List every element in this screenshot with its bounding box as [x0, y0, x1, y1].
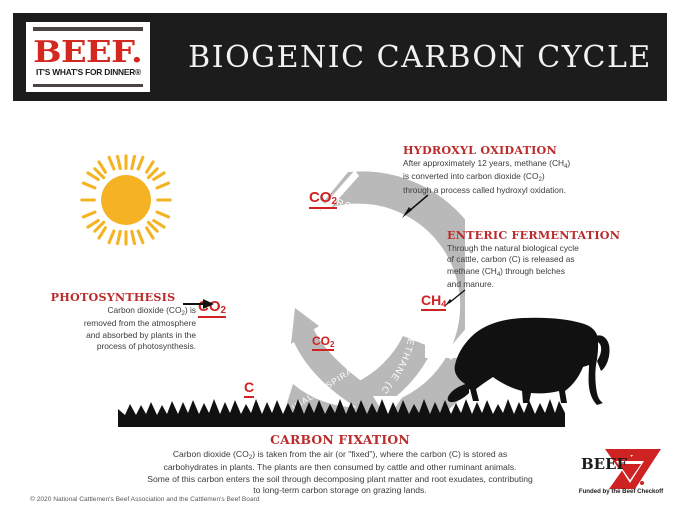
photosynthesis-body: Carbon dioxide (CO2) is removed from the… [30, 305, 196, 353]
enteric-line4: and manure. [447, 279, 494, 289]
photosynthesis-line3: and absorbed by plants in the [86, 330, 196, 340]
photosynthesis-line4: process of photosynthesis. [97, 341, 196, 351]
logo-wordmark-group: BEEF. IT'S WHAT'S FOR DINNER® [33, 31, 143, 84]
carbon-fixation-line4: to long-term carbon storage on grazing l… [253, 485, 426, 495]
hydroxyl-body: After approximately 12 years, methane (C… [403, 158, 633, 196]
enteric-line1: Through the natural biological cycle [447, 243, 579, 253]
hydroxyl-line3: through a process called hydroxyl oxidat… [403, 185, 566, 195]
ring-marker-co2-top: CO2 [309, 190, 337, 205]
carbon-fixation-line1b: ) is taken from the air (or "fixed"), wh… [252, 449, 507, 459]
enteric-body: Through the natural biological cycle of … [447, 243, 662, 291]
carbon-fixation-body: Carbon dioxide (CO2) is taken from the a… [100, 449, 580, 497]
ring-marker-c: C [244, 380, 254, 394]
enteric-line3: methane (CH [447, 266, 497, 276]
checkoff-funding-text: Funded by the Beef Checkoff [575, 488, 667, 495]
sun-icon [78, 152, 174, 248]
enteric-arrow-icon [443, 288, 467, 308]
carbon-fixation-line3: Some of this carbon enters the soil thro… [147, 474, 533, 484]
carbon-fixation-heading: CARBON FIXATION [100, 432, 580, 447]
hydroxyl-line1: After approximately 12 years, methane (C… [403, 158, 564, 168]
photosynthesis-sub-2: 2 [181, 311, 184, 317]
enteric-line3b: ) through belches [500, 266, 565, 276]
checkoff-brand-text: BEEF [581, 455, 628, 473]
hydroxyl-line2: is converted into carbon dioxide (CO [403, 171, 538, 181]
header-bar: BEEF. IT'S WHAT'S FOR DINNER® BIOGENIC C… [13, 13, 667, 101]
hydroxyl-oxidation-block: HYDROXYL OXIDATION After approximately 1… [403, 143, 633, 196]
photosynthesis-line1b: ) is [185, 305, 196, 315]
grass-silhouette-icon [118, 393, 565, 427]
ring-marker-co2-inner: CO2 [312, 335, 334, 347]
hydroxyl-line1b: ) [567, 158, 570, 168]
page-title: BIOGENIC CARBON CYCLE [173, 13, 667, 101]
enteric-heading: ENTERIC FERMENTATION [447, 228, 662, 242]
hydroxyl-heading: HYDROXYL OXIDATION [403, 143, 633, 157]
carbon-fixation-line2: carbohydrates in plants. The plants are … [164, 462, 517, 472]
logo-brand-text: BEEF. [33, 39, 142, 67]
logo-tagline-text: IT'S WHAT'S FOR DINNER® [35, 68, 140, 77]
photosynthesis-line2: removed from the atmosphere [84, 318, 196, 328]
ring-label-carbon: CARBON (C) [219, 325, 233, 385]
hydroxyl-sub-2: 2 [538, 177, 541, 183]
photosynthesis-block: PHOTOSYNTHESIS Carbon dioxide (CO2) is r… [30, 290, 196, 353]
beef-brand-logo: BEEF. IT'S WHAT'S FOR DINNER® [26, 22, 150, 92]
logo-rule-bottom [33, 84, 143, 87]
hydroxyl-arrow-icon [400, 193, 430, 219]
hydroxyl-line2b: ) [542, 171, 545, 181]
enteric-sub-4: 4 [497, 272, 500, 278]
photosynthesis-line1: Carbon dioxide (CO [107, 305, 181, 315]
carbon-fixation-line1: Carbon dioxide (CO [173, 449, 249, 459]
photosynthesis-heading: PHOTOSYNTHESIS [30, 290, 196, 304]
copyright-notice: © 2020 National Cattlemen's Beef Associa… [30, 496, 260, 503]
infographic-canvas: BEEF. IT'S WHAT'S FOR DINNER® BIOGENIC C… [0, 0, 680, 515]
hydroxyl-sub-4: 4 [564, 164, 567, 170]
checkoff-checkmark-icon: BEEF [575, 447, 667, 489]
beef-checkoff-logo: BEEF Funded by the Beef Checkoff [575, 447, 667, 501]
enteric-fermentation-block: ENTERIC FERMENTATION Through the natural… [447, 228, 662, 291]
carbon-fixation-block: CARBON FIXATION Carbon dioxide (CO2) is … [100, 432, 580, 497]
carbon-fixation-sub-2: 2 [249, 454, 252, 461]
enteric-line2: of cattle, carbon (C) is released as [447, 254, 575, 264]
